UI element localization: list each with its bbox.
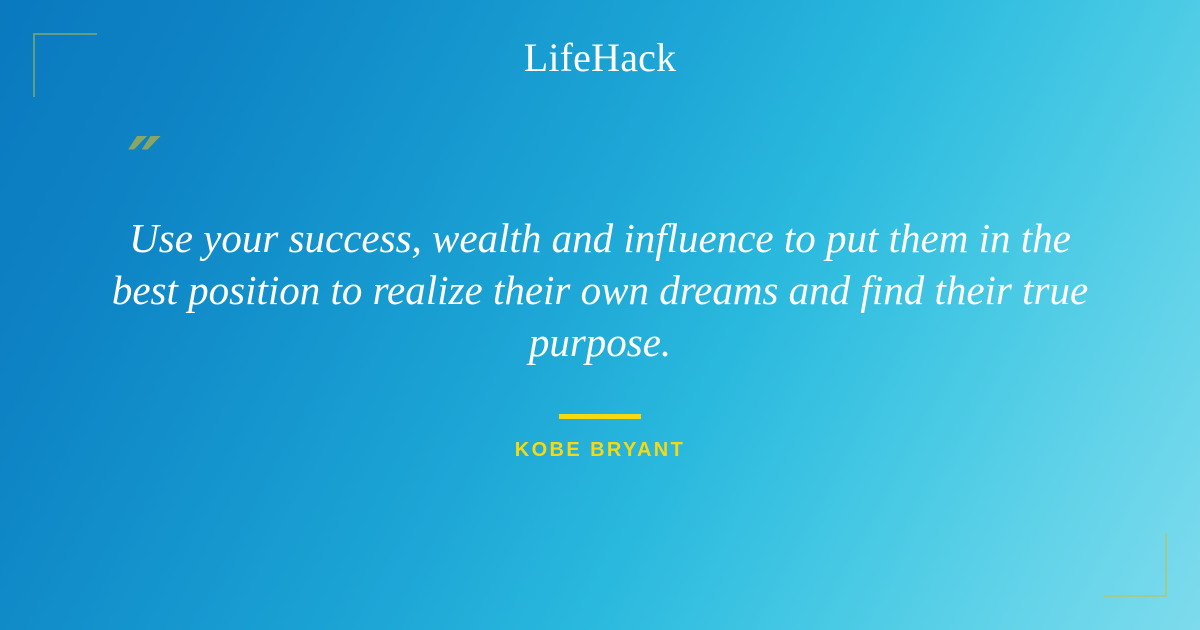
quotation-mark-icon: ″ [128, 128, 161, 202]
quote-text-block: Use your success, wealth and influence t… [80, 212, 1120, 368]
corner-bracket-bottom-right-icon [1103, 533, 1167, 597]
quote-line: Use your success, wealth and influence t… [80, 212, 1120, 264]
quote-divider-rule [559, 414, 641, 419]
brand-header: LifeHack [0, 38, 1200, 78]
quote-line: best position to realize their own dream… [80, 264, 1120, 316]
divider-container [0, 406, 1200, 424]
attribution-container: KOBE BRYANT [0, 439, 1200, 462]
quote-line: purpose. [80, 316, 1120, 368]
quote-card: LifeHack ″ Use your success, wealth and … [0, 0, 1200, 630]
lifehack-logo: LifeHack [524, 38, 677, 78]
quote-author-name: KOBE BRYANT [515, 439, 686, 462]
